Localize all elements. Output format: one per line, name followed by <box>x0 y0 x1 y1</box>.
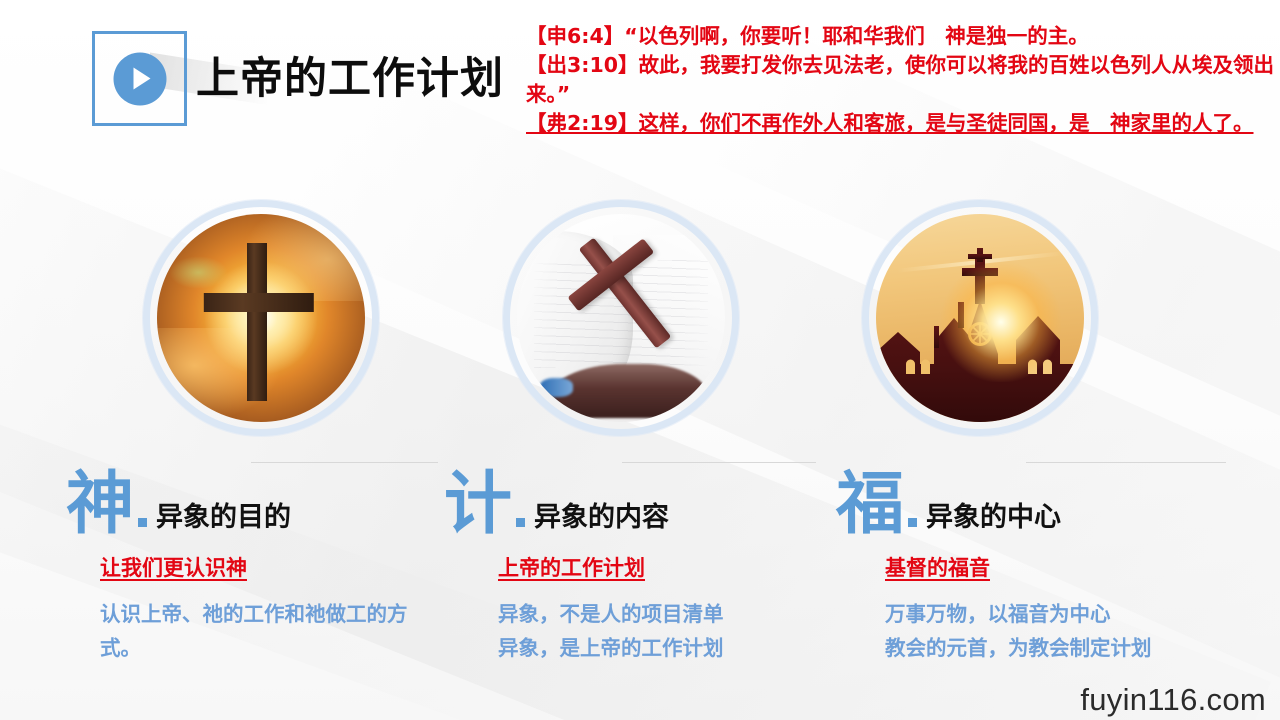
slide-header: 上帝的工作计划 【申6:4】“以色列啊，你要听！耶和华我们 神是独一的主。 【出… <box>0 0 1280 190</box>
circle-image-1 <box>143 200 379 436</box>
heading-column-3: 福 异象的中心 <box>836 452 1256 532</box>
logo-frame <box>92 31 187 126</box>
circle-ring <box>143 200 379 436</box>
page-title: 上帝的工作计划 <box>196 44 504 106</box>
heading-column-2: 计 异象的内容 <box>444 452 824 532</box>
column-big-char: 神 <box>66 473 134 538</box>
divider-line <box>622 462 816 463</box>
heading-column-1: 神 异象的目的 <box>66 452 446 532</box>
divider-line <box>1026 462 1226 463</box>
column-big-char: 福 <box>836 473 904 538</box>
column-subtitle: 异象的目的 <box>156 504 291 538</box>
column-body-line: 认识上帝、祂的工作和祂做工的方式。 <box>100 598 445 666</box>
column-red-heading: 让我们更认识神 <box>100 552 450 582</box>
site-watermark: fuyin116.com <box>1080 682 1266 718</box>
church-sunset-silhouette-photo <box>876 214 1084 422</box>
body-column-2: 上帝的工作计划 异象，不是人的项目清单 异象，是上帝的工作计划 <box>498 552 848 666</box>
column-red-heading: 基督的福音 <box>885 552 1245 582</box>
column-subtitle: 异象的中心 <box>926 504 1061 538</box>
body-column-3: 基督的福音 万事万物，以福音为中心 教会的元首，为教会制定计划 <box>885 552 1245 666</box>
circle-image-2 <box>503 200 739 436</box>
image-row <box>0 196 1280 446</box>
scripture-verse-2: 【出3:10】故此，我要打发你去见法老，使你可以将我的百姓以色列人从埃及领出来。… <box>526 51 1274 109</box>
scripture-verse-1: 【申6:4】“以色列啊，你要听！耶和华我们 神是独一的主。 <box>526 22 1274 51</box>
divider-line <box>251 462 438 463</box>
square-bullet-icon <box>138 518 147 527</box>
column-red-heading: 上帝的工作计划 <box>498 552 848 582</box>
heading-row: 神 异象的目的 计 异象的内容 福 异象的中心 <box>0 452 1280 532</box>
column-big-char: 计 <box>444 473 512 538</box>
column-body-line: 异象，是上帝的工作计划 <box>498 632 848 666</box>
body-column-1: 让我们更认识神 认识上帝、祂的工作和祂做工的方式。 <box>100 552 450 666</box>
column-body-line: 异象，不是人的项目清单 <box>498 598 848 632</box>
circle-ring <box>503 200 739 436</box>
column-body-line: 万事万物，以福音为中心 <box>885 598 1245 632</box>
presentation-slide: 上帝的工作计划 【申6:4】“以色列啊，你要听！耶和华我们 神是独一的主。 【出… <box>0 0 1280 720</box>
square-bullet-icon <box>908 518 917 527</box>
column-body-line: 教会的元首，为教会制定计划 <box>885 632 1245 666</box>
square-bullet-icon <box>516 518 525 527</box>
scripture-verse-3: 【弗2:19】这样，你们不再作外人和客旅，是与圣徒同国，是 神家里的人了。 <box>526 109 1274 138</box>
circle-image-3 <box>862 200 1098 436</box>
play-button-icon <box>113 52 166 105</box>
scripture-block: 【申6:4】“以色列啊，你要听！耶和华我们 神是独一的主。 【出3:10】故此，… <box>526 22 1274 138</box>
column-subtitle: 异象的内容 <box>534 504 669 538</box>
